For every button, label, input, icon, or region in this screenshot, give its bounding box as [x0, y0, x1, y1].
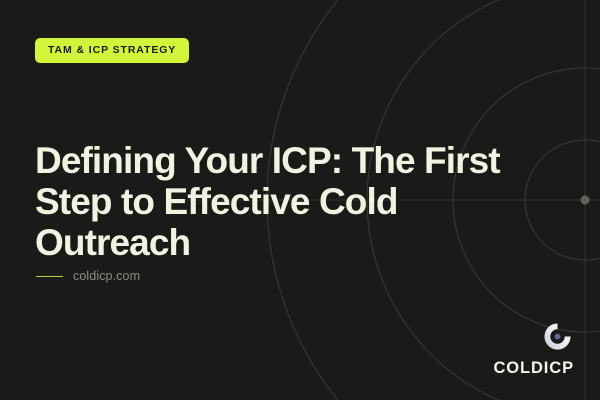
category-badge-label: TAM & ICP STRATEGY [48, 45, 176, 56]
accent-rule-icon [36, 276, 63, 278]
website-url-row: coldicp.com [36, 270, 140, 283]
slide-canvas: TAM & ICP STRATEGY Defining Your ICP: Th… [0, 0, 600, 400]
headline: Defining Your ICP: The First Step to Eff… [35, 140, 555, 263]
radar-center-dot [581, 196, 590, 205]
brand-lockup: COLDICP [493, 320, 574, 377]
headline-line-3: Outreach [35, 222, 555, 263]
headline-line-1: Defining Your ICP: The First [35, 140, 555, 181]
headline-line-2: Step to Effective Cold [35, 181, 555, 222]
category-badge: TAM & ICP STRATEGY [35, 38, 189, 63]
coldicp-logo-icon [541, 320, 574, 353]
brand-name: COLDICP [493, 360, 574, 377]
website-url-text: coldicp.com [73, 270, 140, 283]
logo-center-dot [555, 333, 561, 339]
